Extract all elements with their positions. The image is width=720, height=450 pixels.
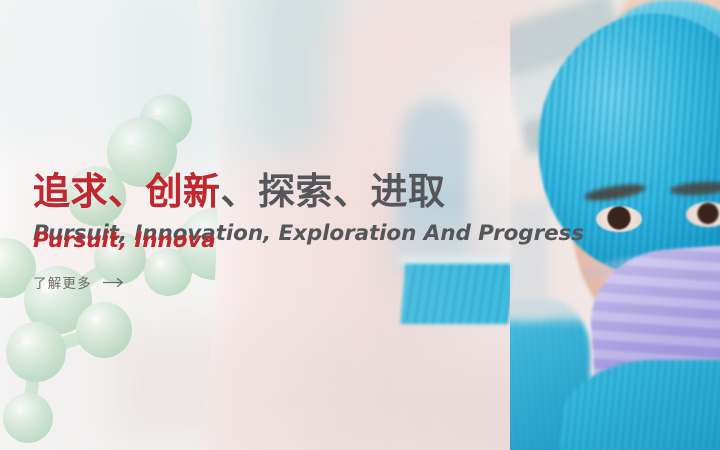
hero-banner: 追求、创新、探索、进取 追求、创新、探索、进取 Pursuit, Innovat… bbox=[0, 0, 720, 450]
learn-more-label: 了解更多 bbox=[33, 272, 92, 292]
arrow-right-icon bbox=[103, 277, 125, 288]
learn-more-link[interactable]: 了解更多 bbox=[33, 272, 125, 292]
molecule-illustration bbox=[0, 0, 230, 450]
white-curved-panel bbox=[0, 0, 230, 450]
